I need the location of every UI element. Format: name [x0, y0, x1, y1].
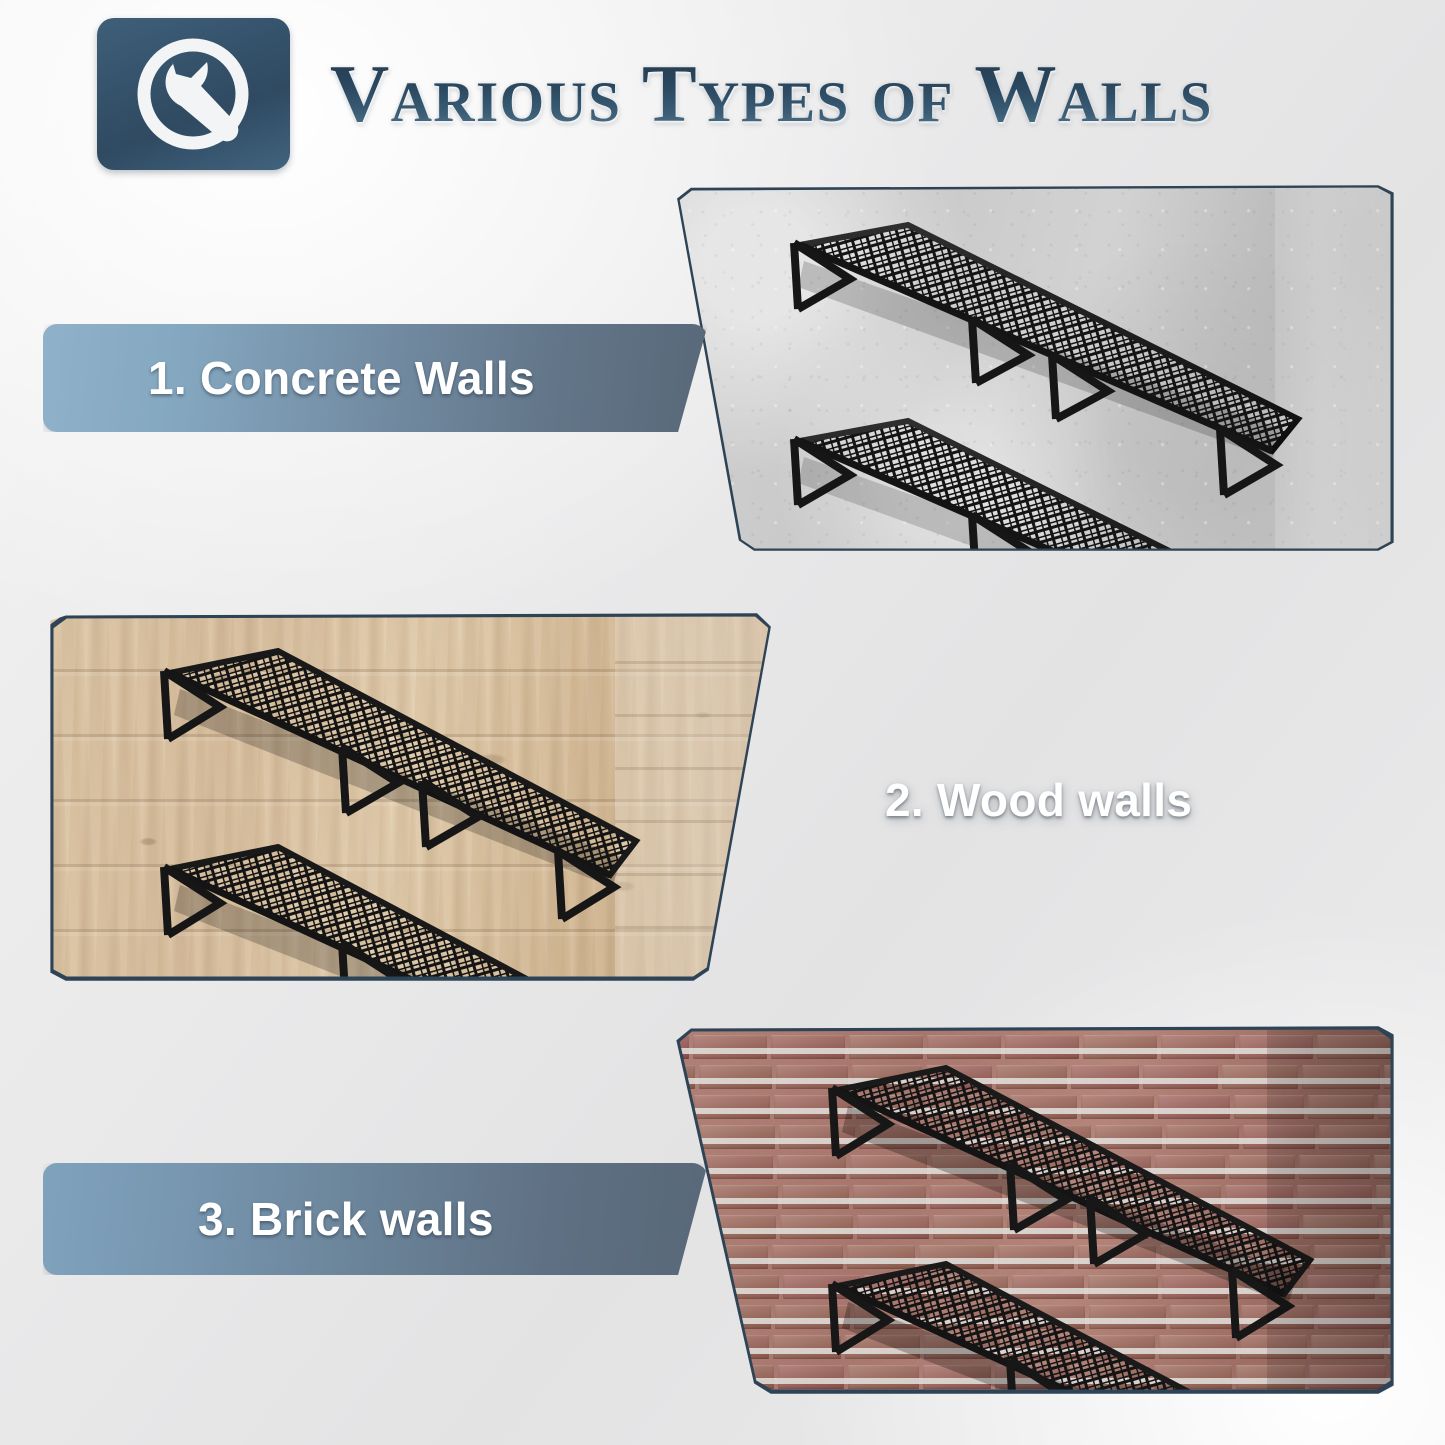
banner-brick-label: 3. Brick walls: [198, 1192, 494, 1246]
wire-shelves-brick: [672, 1024, 1398, 1396]
brick: [672, 1305, 699, 1329]
banner-concrete-label: 1. Concrete Walls: [148, 351, 535, 405]
page-title: Various Types of Walls: [330, 38, 1390, 150]
brick: [1071, 1395, 1139, 1396]
brick: [852, 1395, 922, 1396]
brick: [1395, 1035, 1398, 1059]
brick: [672, 1125, 696, 1149]
brick: [1388, 1024, 1398, 1029]
infographic-page: Various Types of Walls: [0, 0, 1445, 1445]
brick-wall-photo: [672, 1024, 1398, 1396]
brick: [698, 1024, 769, 1029]
brick: [672, 1365, 700, 1389]
brick: [672, 1095, 690, 1119]
brick: [672, 1395, 695, 1396]
wood-photo-inner: [46, 611, 776, 983]
brick: [926, 1395, 992, 1396]
banner-concrete-walls[interactable]: 1. Concrete Walls: [43, 324, 708, 432]
brick: [1302, 1395, 1380, 1396]
wire-shelves-concrete: [672, 183, 1398, 553]
concrete-wall-photo: [672, 183, 1398, 553]
page-title-text: Various Types of Walls: [330, 53, 1213, 135]
banner-brick-walls[interactable]: 3. Brick walls: [43, 1163, 708, 1275]
wood-wall-photo: [46, 611, 776, 983]
brick: [1394, 1305, 1398, 1329]
brick: [699, 1395, 772, 1396]
wire-shelves-wood: [46, 611, 776, 983]
wrench-in-circle-icon: [97, 18, 290, 170]
brick: [1143, 1395, 1218, 1396]
brick: [1384, 1395, 1398, 1396]
header: Various Types of Walls: [0, 0, 1445, 180]
brick: [776, 1395, 848, 1396]
concrete-photo-inner: [672, 183, 1398, 553]
brick: [996, 1395, 1067, 1396]
brick: [672, 1275, 706, 1299]
brick: [1222, 1395, 1298, 1396]
brick: [672, 1335, 694, 1359]
brick: [1393, 1125, 1398, 1149]
brick-photo-inner: [672, 1024, 1398, 1396]
banner-wood-label: 2. Wood walls: [885, 773, 1192, 827]
banner-wood-walls[interactable]: 2. Wood walls: [745, 740, 1400, 860]
brick: [773, 1024, 841, 1029]
brick: [672, 1024, 694, 1029]
